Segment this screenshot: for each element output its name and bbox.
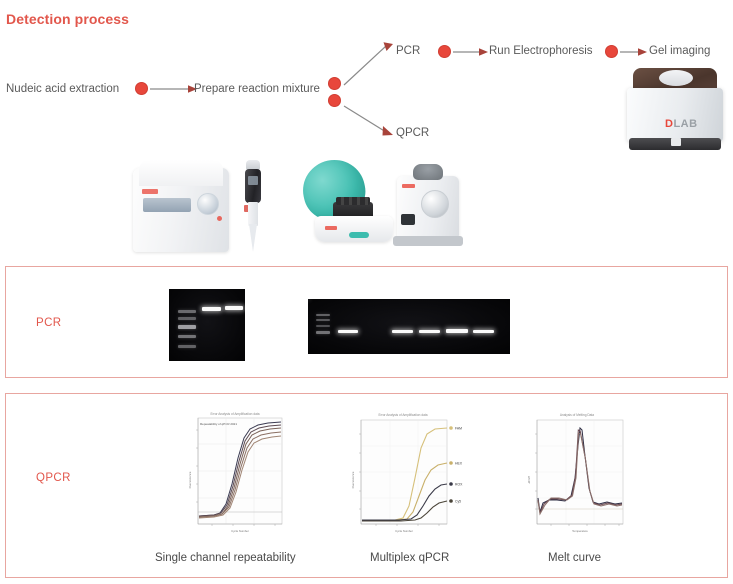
flow-step-qpcr: QPCR xyxy=(396,128,429,140)
ladder-band xyxy=(316,319,330,321)
thermal-cycler-lid xyxy=(139,160,223,186)
gel-imager-brand: DLAB xyxy=(665,118,698,130)
flow-arrow-1 xyxy=(150,82,198,96)
chart-2-ylabel: Fluorescence xyxy=(351,471,355,488)
qpcr-row-label: QPCR xyxy=(36,472,71,484)
centrifuge-button xyxy=(349,232,369,238)
pipette-shaft xyxy=(248,202,258,226)
pipette-grip xyxy=(245,169,261,203)
flow-node-dot-branch-upper xyxy=(328,77,341,90)
thermal-cycler-display xyxy=(143,198,191,212)
chart-3-title: Analysis of Melting Data xyxy=(560,413,594,417)
chart-2-svg: Error Analysis of Amplification data FAM… xyxy=(345,408,465,540)
chart-1-ylabel: Fluorescence xyxy=(188,471,192,488)
gel-image-eight-lane xyxy=(308,299,510,354)
pcr-row-label: PCR xyxy=(36,317,61,329)
flow-step-pcr: PCR xyxy=(396,46,420,58)
chart-single-channel-repeatability: Error Analysis of Amplification data Rep… xyxy=(180,408,290,540)
chart-1-title: Error Analysis of Amplification data xyxy=(210,412,259,416)
chart-1-svg: Error Analysis of Amplification data Rep… xyxy=(180,408,290,540)
vortex-logo xyxy=(402,184,415,188)
chart-2-title: Error Analysis of Amplification data xyxy=(378,413,427,417)
chart-caption-multiplex-qpcr: Multiplex qPCR xyxy=(370,552,449,564)
flow-node-dot-3 xyxy=(605,45,618,58)
gel-background xyxy=(308,299,510,354)
ladder-band xyxy=(316,314,330,316)
chart-3-svg: Analysis of Melting Data -dF/dT Temperat… xyxy=(517,408,630,540)
gel-band xyxy=(446,329,468,333)
flow-node-dot-branch-lower xyxy=(328,94,341,107)
instrument-mini-centrifuge xyxy=(293,160,398,252)
ladder-band xyxy=(178,310,196,313)
thermal-cycler-dial xyxy=(197,193,219,215)
vortex-cup xyxy=(413,164,443,180)
gel-imager-photo: DLAB xyxy=(625,68,725,158)
flow-node-dot-1 xyxy=(135,82,148,95)
instrument-micropipette xyxy=(240,158,268,258)
legend-fam: FAM xyxy=(455,427,462,431)
gel-band xyxy=(419,330,440,333)
chart-1-subtitle: Repeatability of qPCR 2021 xyxy=(200,422,237,426)
gel-band xyxy=(202,307,221,311)
vortex-foot xyxy=(393,236,463,246)
thermal-cycler-indicator xyxy=(217,216,222,221)
vortex-speed-knob xyxy=(421,190,449,218)
ladder-band xyxy=(316,325,330,327)
flow-arrow-branch-down xyxy=(344,104,396,138)
legend-cy5: Cy5 xyxy=(455,500,461,504)
chart-melt-curve: Analysis of Melting Data -dF/dT Temperat… xyxy=(517,408,630,540)
vortex-display xyxy=(401,214,415,225)
ladder-band xyxy=(178,317,196,320)
gel-band xyxy=(392,330,413,333)
ladder-band xyxy=(178,325,196,329)
instrument-thermal-cycler xyxy=(133,160,233,256)
brand-name: LAB xyxy=(673,118,697,130)
chart-caption-melt-curve: Melt curve xyxy=(548,552,601,564)
flow-arrow-3 xyxy=(620,45,648,59)
instrument-photo-row xyxy=(0,150,733,262)
gel-band xyxy=(473,330,494,333)
gel-imager-latch xyxy=(671,138,681,146)
pipette-display xyxy=(248,176,258,185)
legend-rox: ROX xyxy=(455,483,463,487)
gel-image-two-lane xyxy=(169,289,245,361)
thermal-cycler-logo xyxy=(142,189,158,194)
ladder-band xyxy=(316,331,330,334)
gel-band xyxy=(338,330,358,333)
gel-imager-body xyxy=(627,88,723,142)
chart-3-xlabel: Temperature xyxy=(572,529,588,533)
flow-step-nucleic-acid-extraction: Nudeic acid extraction xyxy=(6,84,119,96)
flow-step-gel-imaging: Gel imaging xyxy=(649,46,710,58)
flow-arrow-2 xyxy=(453,45,489,59)
detection-process-flow: Nudeic acid extraction Prepare reaction … xyxy=(0,0,733,160)
instrument-vortex-mixer xyxy=(391,162,469,254)
pipette-tip xyxy=(249,224,257,252)
flow-arrow-branch-up xyxy=(344,40,396,88)
flow-step-prepare-reaction-mixture: Prepare reaction mixture xyxy=(194,84,320,96)
chart-2-xlabel: Cycle Number xyxy=(395,529,413,533)
gel-band xyxy=(225,306,243,310)
chart-multiplex-qpcr: Error Analysis of Amplification data FAM… xyxy=(345,408,465,540)
ladder-band xyxy=(178,335,196,338)
flow-node-dot-2 xyxy=(438,45,451,58)
gel-imager-handle xyxy=(659,70,693,86)
legend-hex: HEX xyxy=(455,462,463,466)
chart-1-xlabel: Cycle Number xyxy=(231,529,249,533)
chart-caption-single-channel-repeatability: Single channel repeatability xyxy=(155,552,296,564)
ladder-band xyxy=(178,345,196,348)
chart-3-ylabel: -dF/dT xyxy=(527,476,531,485)
flow-step-run-electrophoresis: Run Electrophoresis xyxy=(489,46,593,58)
centrifuge-logo xyxy=(325,226,337,230)
